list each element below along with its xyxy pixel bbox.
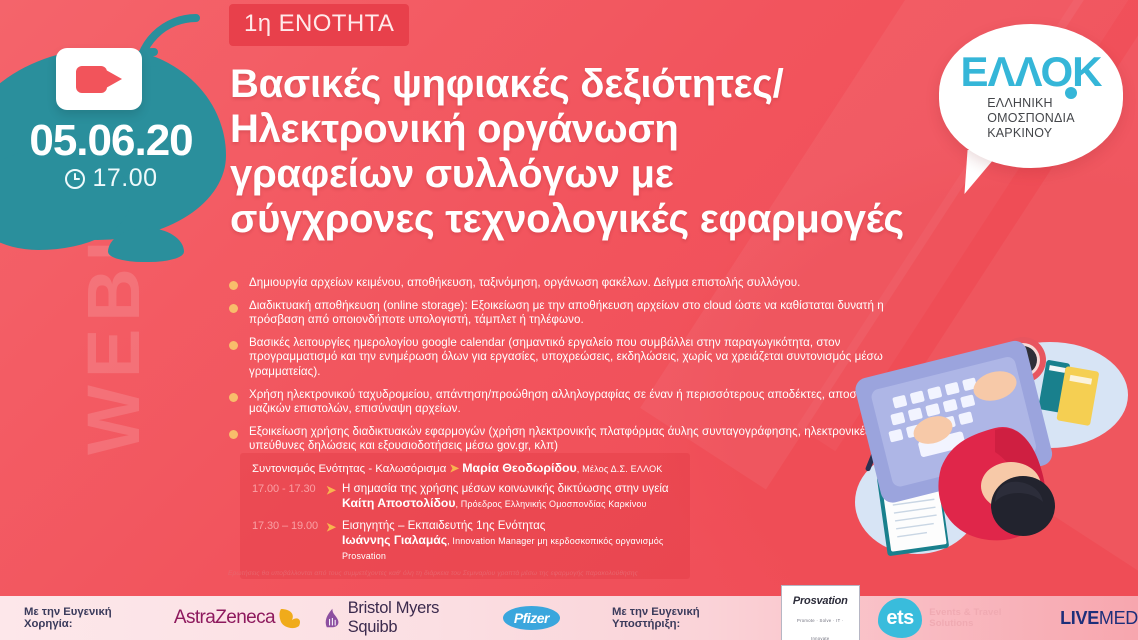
sponsor-logo-bms: Bristol Myers Squibb [324, 599, 483, 637]
schedule-row-topic: Η σημασία της χρήσης μέσων κοινωνικής δι… [342, 482, 669, 495]
list-item-text: Δημιουργία αρχείων κειμένου, αποθήκευση,… [249, 276, 800, 291]
list-item-text: Εξοικείωση χρήσης διαδικτυακών εφαρμογών… [249, 425, 909, 454]
webinar-poster: WEBINAR 05.06.20 17.00 1η ΕΝΟΤΗΤΑ Βασικέ… [0, 0, 1138, 640]
supporter-logo-ets: ets Events & Travel Solutions [878, 598, 1042, 638]
schedule-row-speaker-role: , Πρόεδρος Ελληνικής Ομοσπονδίας Καρκίνο… [455, 499, 646, 509]
list-item: Εξοικείωση χρήσης διαδικτυακών εφαρμογών… [229, 425, 909, 454]
sponsor-logo-astrazeneca: AstraZeneca [174, 606, 304, 630]
list-item: Δημιουργία αρχείων κειμένου, αποθήκευση,… [229, 276, 909, 291]
astrazeneca-ribbon-icon [278, 606, 304, 630]
schedule-row-time: 17.30 – 19.00 [252, 519, 326, 532]
ellok-subtitle: ΕΛΛΗΝΙΚΗ ΟΜΟΣΠΟΝΔΙΑ ΚΑΡΚΙΝΟΥ [987, 96, 1075, 141]
bms-wordmark: Bristol Myers Squibb [348, 599, 483, 637]
schedule-row-body: Η σημασία της χρήσης μέσων κοινωνικής δι… [342, 482, 669, 512]
ellok-subtitle-line-3: ΚΑΡΚΙΝΟΥ [987, 126, 1075, 141]
bullet-dot-icon [229, 341, 238, 350]
astrazeneca-wordmark: AstraZeneca [174, 607, 275, 629]
prosvation-tagline: Promote · Solve · IT · Innovate [797, 618, 844, 640]
supporter-logo-prosvation: Prosvation Promote · Solve · IT · Innova… [781, 585, 860, 640]
webinar-time: 17.00 [92, 164, 157, 193]
list-item: Βασικές λειτουργίες ημερολογίου google c… [229, 336, 909, 380]
bms-flame-icon [324, 607, 342, 629]
ets-tagline: Events & Travel Solutions [929, 607, 1042, 629]
bullet-dot-icon [229, 304, 238, 313]
schedule-row-speaker: Καίτη Αποστολίδου [342, 496, 455, 510]
title-line-3: γραφείων συλλόγων με [230, 152, 1060, 197]
agenda-bullet-list: Δημιουργία αρχείων κειμένου, αποθήκευση,… [229, 276, 909, 462]
schedule-header: Συντονισμός Ενότητας - Καλωσόρισμα ➤ Μαρ… [252, 461, 680, 475]
list-item-text: Χρήση ηλεκτρονικού ταχυδρομείου, απάντησ… [249, 388, 909, 417]
ellok-subtitle-line-2: ΟΜΟΣΠΟΝΔΙΑ [987, 111, 1075, 126]
ellok-acronym: ΕΛΛΟΚ [961, 52, 1102, 92]
supporter-logo-livemed: LIVEMED [1060, 608, 1138, 629]
webinar-date: 05.06.20 [0, 116, 222, 166]
arrow-icon: ➤ [449, 463, 459, 475]
arrow-icon: ➤ [326, 519, 342, 534]
title-line-1: Βασικές ψηφιακές δεξιότητες/ [230, 62, 1060, 107]
bullet-dot-icon [229, 281, 238, 290]
livemed-wordmark-light: MED [1099, 608, 1138, 628]
schedule-row-body: Εισηγητής – Εκπαιδευτής 1ης Ενότητας Ιωά… [342, 519, 680, 563]
schedule-row-topic: Εισηγητής – Εκπαιδευτής 1ης Ενότητας [342, 519, 545, 532]
footer-sponsors-bar: Με την Ευγενική Χορηγία: AstraZeneca Bri… [0, 596, 1138, 640]
clock-icon [64, 168, 86, 190]
schedule-panel: Συντονισμός Ενότητας - Καλωσόρισμα ➤ Μαρ… [240, 453, 690, 579]
schedule-row: 17.30 – 19.00 ➤ Εισηγητής – Εκπαιδευτής … [252, 519, 680, 563]
sponsor-label: Με την Ευγενική Χορηγία: [24, 606, 154, 630]
ellok-acronym-text: ΕΛΛΟΚ [961, 48, 1102, 95]
list-item-text: Διαδικτυακή αποθήκευση (online storage):… [249, 299, 909, 328]
schedule-header-role: , Μέλος Δ.Σ. ΕΛΛΟΚ [577, 464, 663, 474]
arrow-icon: ➤ [326, 482, 342, 497]
supporter-label: Με την Ευγενική Υποστήριξη: [612, 606, 763, 630]
schedule-row-time: 17.00 - 17.30 [252, 482, 326, 495]
title-line-4: σύγχρονες τεχνολογικές εφαρμογές [230, 197, 1060, 242]
title-line-2: Ηλεκτρονική οργάνωση [230, 107, 1060, 152]
schedule-row-speaker: Ιωάννης Γιαλαμάς [342, 533, 447, 547]
logo-dot [1065, 87, 1077, 99]
schedule-row: 17.00 - 17.30 ➤ Η σημασία της χρήσης μέσ… [252, 482, 680, 512]
ets-wordmark: ets [878, 598, 922, 638]
schedule-header-name: Μαρία Θεοδωρίδου [462, 461, 577, 475]
list-item-text: Βασικές λειτουργίες ημερολογίου google c… [249, 336, 909, 380]
schedule-header-prefix: Συντονισμός Ενότητας - Καλωσόρισμα [252, 463, 446, 475]
bullet-dot-icon [229, 430, 238, 439]
list-item: Διαδικτυακή αποθήκευση (online storage):… [229, 299, 909, 328]
module-badge: 1η ΕΝΟΤΗΤΑ [229, 4, 409, 46]
webinar-time-row: 17.00 [0, 164, 222, 193]
video-camera-icon [56, 48, 142, 110]
sponsor-logo-pfizer: Pfizer [503, 606, 560, 630]
page-title: Βασικές ψηφιακές δεξιότητες/ Ηλεκτρονική… [230, 62, 1060, 242]
list-item: Χρήση ηλεκτρονικού ταχυδρομείου, απάντησ… [229, 388, 909, 417]
livemed-wordmark-bold: LIVE [1060, 608, 1099, 628]
fineprint-note: Ερωτήσεις θα υποβάλλονται από τους συμμε… [228, 570, 748, 577]
ellok-logo: ΕΛΛΟΚ ΕΛΛΗΝΙΚΗ ΟΜΟΣΠΟΝΔΙΑ ΚΑΡΚΙΝΟΥ [939, 24, 1123, 168]
illustration-person-at-laptop [845, 290, 1135, 590]
prosvation-wordmark: Prosvation [793, 595, 848, 607]
bullet-dot-icon [229, 393, 238, 402]
ellok-subtitle-line-1: ΕΛΛΗΝΙΚΗ [987, 96, 1075, 111]
